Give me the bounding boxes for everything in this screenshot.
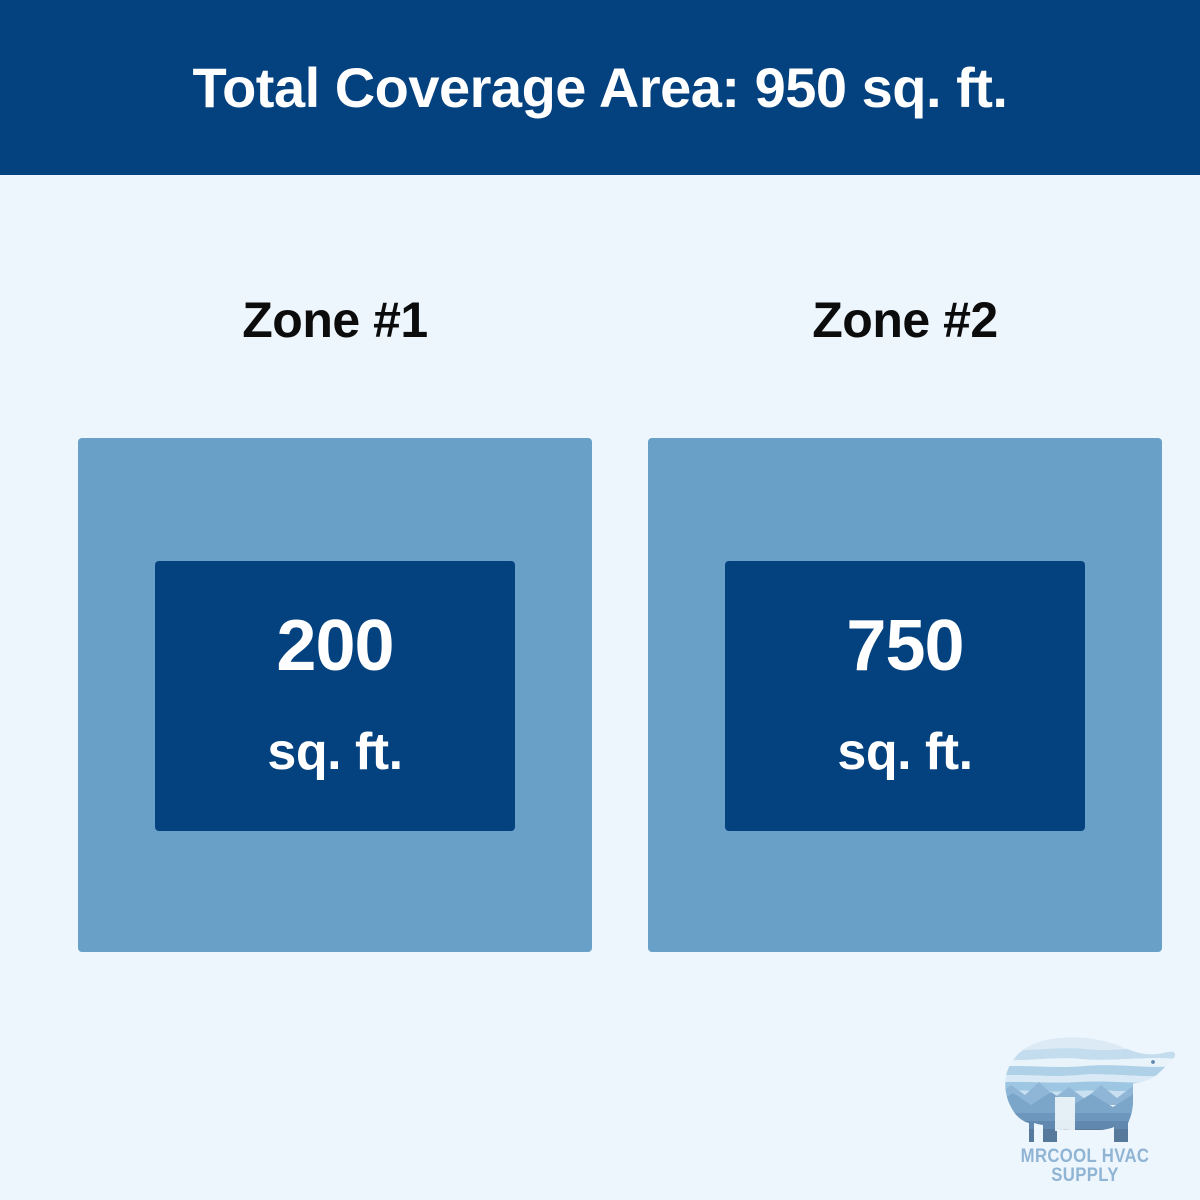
brand-logo: MRCOOL HVAC SUPPLY [985,1035,1185,1185]
zone-1-value: 200 [276,610,393,682]
bear-eye-icon [1151,1060,1155,1064]
zone-1-total-area-box: 200 sq. ft. [78,438,592,952]
zone-1-coverage-box: 200 sq. ft. [155,561,515,831]
infographic-page: Total Coverage Area: 950 sq. ft. Zone #1… [0,0,1200,1200]
header-band: Total Coverage Area: 950 sq. ft. [0,0,1200,175]
zone-2-unit: sq. ft. [837,726,972,778]
polar-bear-icon [993,1035,1178,1143]
zone-1-label: Zone #1 [78,295,592,345]
zone-2-label: Zone #2 [648,295,1162,345]
brand-name: MRCOOL HVAC SUPPLY [997,1147,1173,1185]
zone-2-value: 750 [846,610,963,682]
page-title: Total Coverage Area: 950 sq. ft. [193,60,1008,116]
zone-2-total-area-box: 750 sq. ft. [648,438,1162,952]
zone-1-unit: sq. ft. [267,726,402,778]
zone-2-coverage-box: 750 sq. ft. [725,561,1085,831]
zones-container: Zone #1 200 sq. ft. Zone #2 750 sq. ft. [0,175,1200,975]
